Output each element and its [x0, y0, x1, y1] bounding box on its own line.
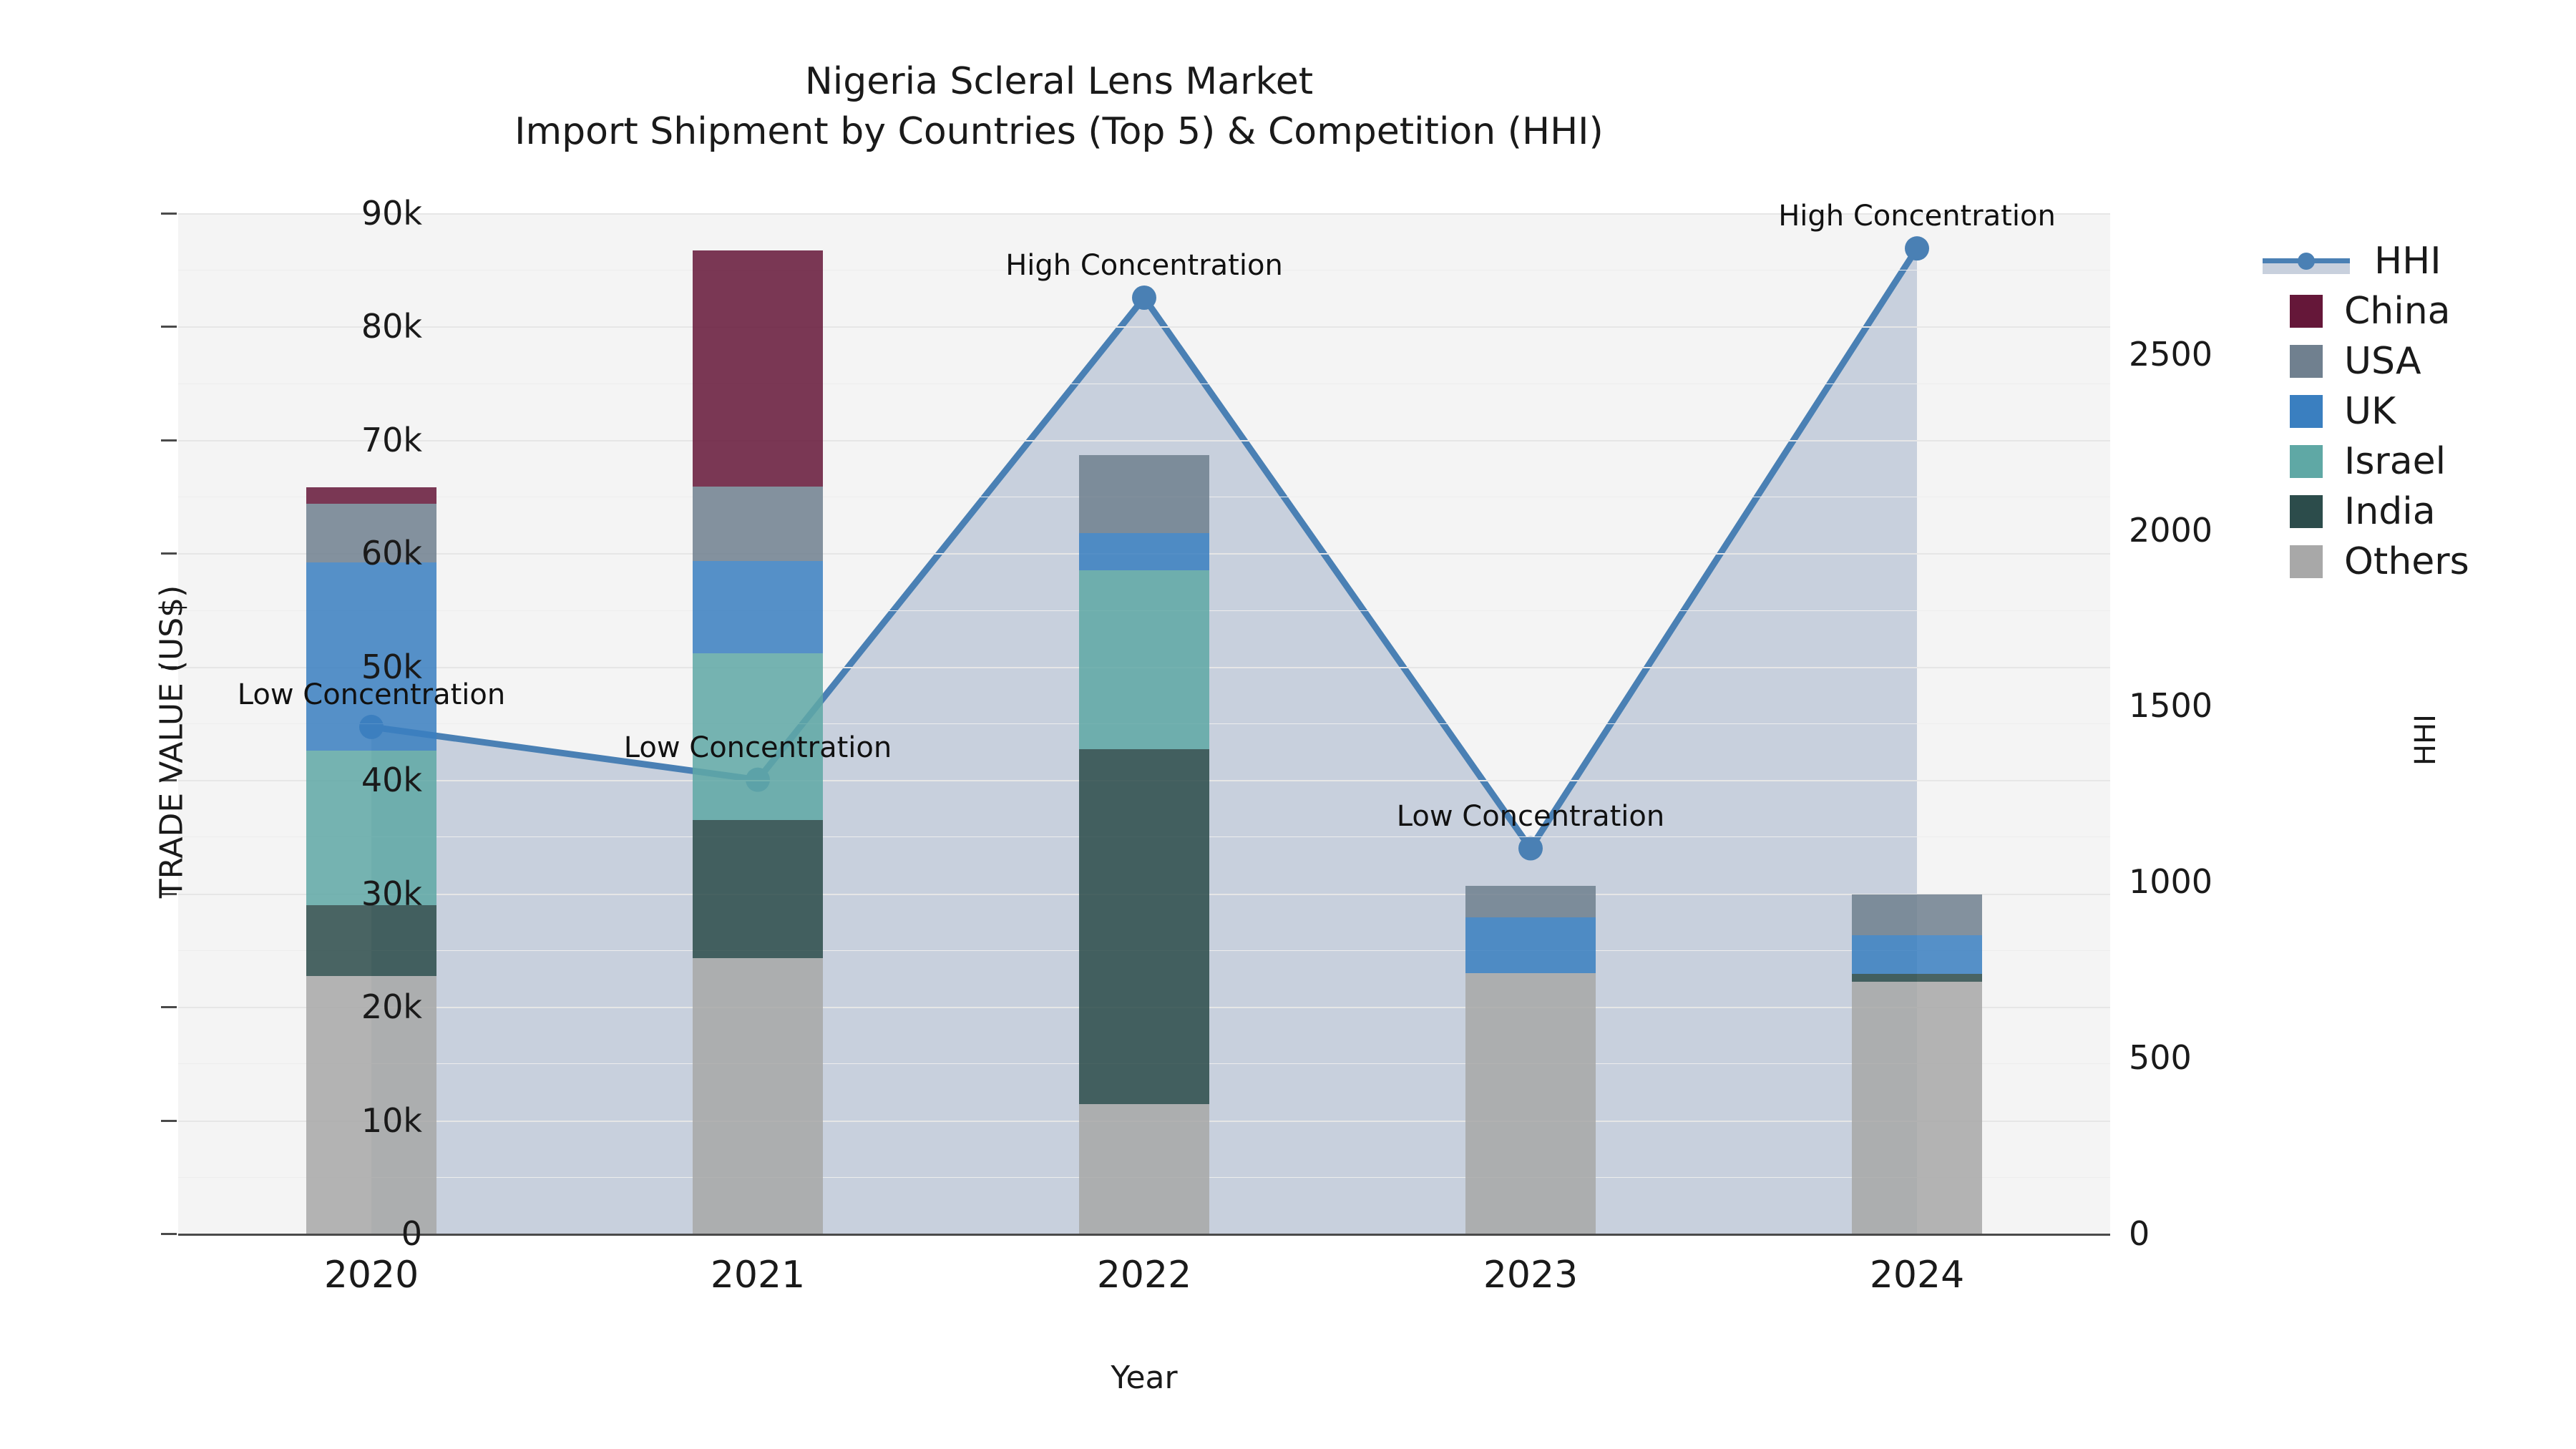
- y-axis-left-tick-label: 10k: [243, 1101, 422, 1140]
- bar-segment-india[interactable]: [1079, 749, 1209, 1104]
- y-axis-left-tick-mark: [161, 213, 177, 215]
- bar-segment-china[interactable]: [306, 487, 436, 503]
- legend-item-label: UK: [2344, 390, 2396, 433]
- y-axis-right-tick-label: 1000: [2129, 862, 2343, 901]
- bar-stack[interactable]: [693, 213, 823, 1234]
- bar-stack[interactable]: [1852, 213, 1982, 1234]
- legend-item-label: USA: [2344, 340, 2421, 383]
- y-axis-left-tick-mark: [161, 1233, 177, 1235]
- bar-segment-others[interactable]: [1079, 1104, 1209, 1234]
- y-axis-left-tick-label: 20k: [243, 987, 422, 1026]
- chart-legend: HHIChinaUSAUKIsraelIndiaOthers: [2290, 236, 2576, 587]
- y-axis-left-tick-label: 60k: [243, 534, 422, 572]
- bar-stack[interactable]: [1465, 213, 1596, 1234]
- bar-segment-india[interactable]: [1852, 974, 1982, 982]
- hhi-legend-icon: [2260, 245, 2353, 278]
- legend-item-india[interactable]: India: [2290, 487, 2576, 537]
- concentration-annotation: Low Concentration: [1397, 800, 1664, 833]
- legend-swatch-icon: [2290, 495, 2323, 528]
- legend-item-label: HHI: [2374, 240, 2441, 283]
- concentration-annotation: High Concentration: [1005, 249, 1283, 282]
- bar-segment-india[interactable]: [693, 820, 823, 958]
- legend-swatch-icon: [2290, 395, 2323, 428]
- legend-swatch-icon: [2290, 545, 2323, 578]
- x-axis-tick-label: 2021: [636, 1254, 879, 1297]
- legend-swatch-icon: [2290, 345, 2323, 378]
- y-axis-left-tick-label: 90k: [243, 194, 422, 233]
- y-axis-left-tick-mark: [161, 439, 177, 441]
- legend-item-others[interactable]: Others: [2290, 537, 2576, 587]
- chart-title-line-1: Nigeria Scleral Lens Market: [0, 57, 2118, 107]
- bar-stack[interactable]: [1079, 213, 1209, 1234]
- legend-item-label: India: [2344, 490, 2436, 533]
- x-axis-label: Year: [178, 1360, 2110, 1396]
- bar-segment-china[interactable]: [693, 250, 823, 487]
- legend-swatch-icon: [2290, 445, 2323, 478]
- chart-title-line-2: Import Shipment by Countries (Top 5) & C…: [0, 107, 2118, 157]
- y-axis-left-tick-label: 30k: [243, 874, 422, 913]
- y-axis-right-tick-label: 1500: [2129, 686, 2343, 725]
- legend-item-label: Israel: [2344, 440, 2446, 483]
- bar-segment-uk[interactable]: [1852, 935, 1982, 974]
- bar-segment-usa[interactable]: [1079, 455, 1209, 533]
- chart-root: Nigeria Scleral Lens Market Import Shipm…: [0, 0, 2576, 1449]
- x-axis-line: [178, 1234, 2110, 1236]
- y-axis-left-tick-mark: [161, 326, 177, 328]
- x-axis-tick-label: 2024: [1795, 1254, 2039, 1297]
- chart-title: Nigeria Scleral Lens Market Import Shipm…: [0, 57, 2118, 157]
- legend-item-hhi[interactable]: HHI: [2290, 236, 2576, 286]
- bar-segment-usa[interactable]: [693, 487, 823, 562]
- bar-stack[interactable]: [306, 213, 436, 1234]
- legend-swatch-icon: [2290, 295, 2323, 328]
- y-axis-left-label: TRADE VALUE (US$): [154, 527, 190, 957]
- legend-item-label: Others: [2344, 540, 2469, 583]
- bar-segment-uk[interactable]: [1465, 917, 1596, 973]
- concentration-annotation: Low Concentration: [624, 731, 892, 764]
- hhi-legend-dot: [2298, 253, 2315, 270]
- bar-segment-usa[interactable]: [1465, 886, 1596, 917]
- bar-segment-india[interactable]: [306, 905, 436, 977]
- x-axis-tick-label: 2020: [250, 1254, 493, 1297]
- bar-segment-israel[interactable]: [1079, 570, 1209, 749]
- bar-segment-usa[interactable]: [1852, 894, 1982, 935]
- bar-segment-others[interactable]: [693, 958, 823, 1234]
- concentration-annotation: Low Concentration: [238, 678, 505, 711]
- y-axis-left-tick-label: 40k: [243, 761, 422, 799]
- legend-item-usa[interactable]: USA: [2290, 336, 2576, 386]
- y-axis-left-tick-mark: [161, 1120, 177, 1122]
- y-axis-left-tick-label: 70k: [243, 421, 422, 459]
- bar-segment-others[interactable]: [1852, 982, 1982, 1234]
- y-axis-right-tick-label: 0: [2129, 1214, 2343, 1253]
- x-axis-tick-label: 2022: [1023, 1254, 1266, 1297]
- y-axis-left-tick-label: 0: [243, 1214, 422, 1253]
- x-axis-tick-label: 2023: [1409, 1254, 1652, 1297]
- concentration-annotation: High Concentration: [1778, 200, 2056, 233]
- bar-segment-uk[interactable]: [693, 561, 823, 653]
- y-axis-right-tick-label: 500: [2129, 1038, 2343, 1077]
- bar-segment-uk[interactable]: [1079, 533, 1209, 570]
- y-axis-left-tick-label: 80k: [243, 307, 422, 346]
- legend-item-label: China: [2344, 290, 2451, 333]
- bar-segment-others[interactable]: [1465, 973, 1596, 1234]
- y-axis-right-label: HHI: [2409, 633, 2442, 847]
- legend-item-china[interactable]: China: [2290, 286, 2576, 336]
- legend-item-israel[interactable]: Israel: [2290, 436, 2576, 487]
- y-axis-left-tick-mark: [161, 1006, 177, 1008]
- legend-item-uk[interactable]: UK: [2290, 386, 2576, 436]
